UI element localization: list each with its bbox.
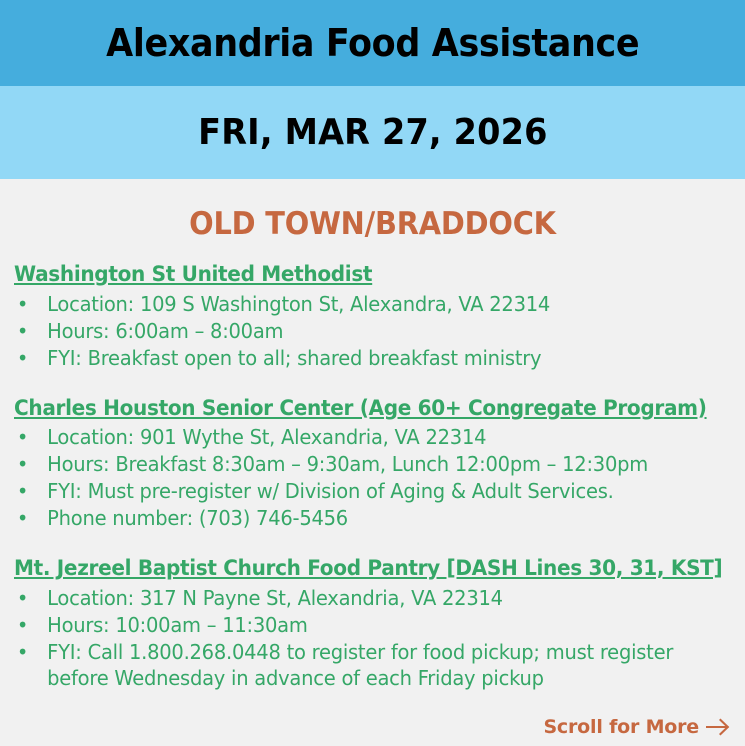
section-heading: OLD TOWN/BRADDOCK [26, 179, 719, 240]
list-item: • FYI: Call 1.800.268.0448 to register f… [14, 639, 715, 691]
main-content: OLD TOWN/BRADDOCK Washington St United M… [0, 179, 745, 746]
list-item-text: Hours: 10:00am – 11:30am [47, 613, 307, 637]
listing-container: Washington St United Methodist • Locatio… [0, 240, 745, 691]
list-item-text: Hours: 6:00am – 8:00am [47, 319, 283, 343]
list-item: • Hours: Breakfast 8:30am – 9:30am, Lunc… [14, 451, 715, 477]
bullet-icon: • [17, 639, 28, 665]
list-item: • Hours: 6:00am – 8:00am [14, 318, 715, 344]
list-item-text: FYI: Call 1.800.268.0448 to register for… [47, 640, 673, 690]
bullet-icon: • [17, 505, 28, 531]
listing-name[interactable]: Washington St United Methodist [14, 262, 701, 288]
listing-details: • Location: 901 Wythe St, Alexandria, VA… [14, 424, 733, 531]
listing-name[interactable]: Charles Houston Senior Center (Age 60+ C… [14, 396, 701, 422]
listing-item: Washington St United Methodist • Locatio… [14, 262, 733, 371]
listing-item: Mt. Jezreel Baptist Church Food Pantry [… [14, 556, 733, 691]
list-item: • FYI: Must pre-register w/ Division of … [14, 478, 715, 504]
bullet-icon: • [17, 345, 28, 371]
bullet-icon: • [17, 478, 28, 504]
list-item: • Location: 317 N Payne St, Alexandria, … [14, 585, 715, 611]
list-item: • Phone number: (703) 746-5456 [14, 505, 715, 531]
list-item-text: Location: 317 N Payne St, Alexandria, VA… [47, 586, 503, 610]
scroll-for-more-label: Scroll for More [543, 716, 699, 738]
listing-details: • Location: 109 S Washington St, Alexand… [14, 291, 733, 371]
bullet-icon: • [17, 585, 28, 611]
listing-item: Charles Houston Senior Center (Age 60+ C… [14, 396, 733, 532]
list-item-text: Location: 901 Wythe St, Alexandria, VA 2… [47, 425, 486, 449]
list-item: • FYI: Breakfast open to all; shared bre… [14, 345, 715, 371]
list-item-text: FYI: Must pre-register w/ Division of Ag… [47, 479, 613, 503]
scroll-for-more[interactable]: Scroll for More [543, 716, 730, 738]
bullet-icon: • [17, 318, 28, 344]
listing-name[interactable]: Mt. Jezreel Baptist Church Food Pantry [… [14, 556, 701, 582]
list-item-text: Location: 109 S Washington St, Alexandra… [47, 292, 550, 316]
bullet-icon: • [17, 451, 28, 477]
list-item: • Location: 901 Wythe St, Alexandria, VA… [14, 424, 715, 450]
bullet-icon: • [17, 291, 28, 317]
food-assistance-board: Alexandria Food Assistance FRI, MAR 27, … [0, 0, 745, 746]
header-date-band: FRI, MAR 27, 2026 [0, 86, 745, 179]
arrow-right-icon [706, 718, 730, 736]
list-item: • Hours: 10:00am – 11:30am [14, 612, 715, 638]
header-title-band: Alexandria Food Assistance [0, 0, 745, 86]
date-label: FRI, MAR 27, 2026 [198, 115, 547, 151]
page-title: Alexandria Food Assistance [106, 24, 639, 62]
bullet-icon: • [17, 612, 28, 638]
list-item-text: Phone number: (703) 746-5456 [47, 506, 348, 530]
listing-details: • Location: 317 N Payne St, Alexandria, … [14, 585, 733, 691]
list-item-text: Hours: Breakfast 8:30am – 9:30am, Lunch … [47, 452, 648, 476]
list-item-text: FYI: Breakfast open to all; shared break… [47, 346, 541, 370]
bullet-icon: • [17, 424, 28, 450]
list-item: • Location: 109 S Washington St, Alexand… [14, 291, 715, 317]
